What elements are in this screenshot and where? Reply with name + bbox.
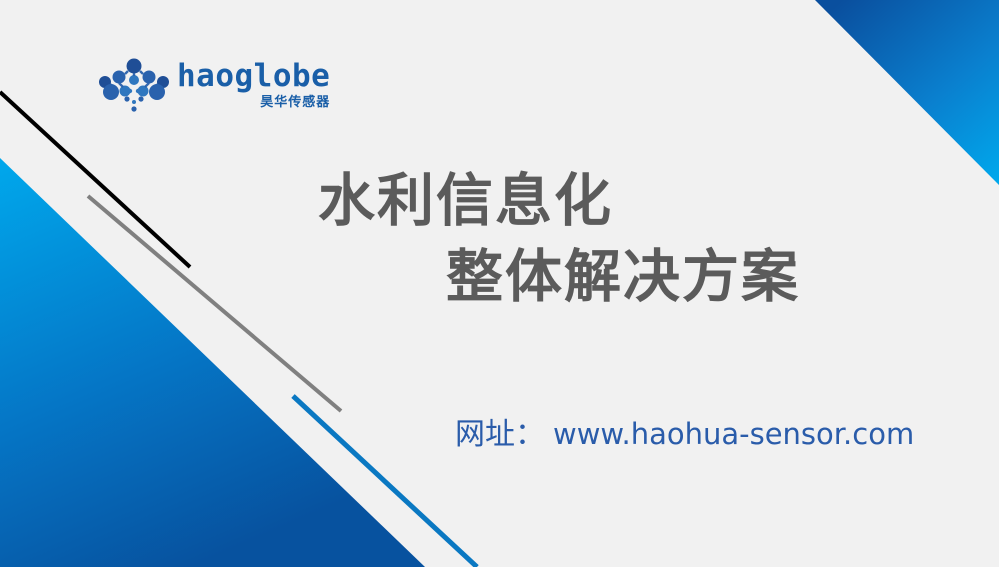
logo-text-block: haoglobe 昊华传感器 (177, 58, 330, 109)
title-line-1: 水利信息化 (318, 164, 918, 240)
brand-logo: haoglobe 昊华传感器 (97, 58, 312, 120)
haoglobe-bubble-cluster-icon (97, 58, 171, 116)
website-line: 网址： www.haohua-sensor.com (455, 420, 914, 450)
website-url[interactable]: www.haohua-sensor.com (553, 420, 914, 449)
presentation-slide: haoglobe 昊华传感器 水利信息化 整体解决方案 网址： www.haoh… (0, 0, 999, 567)
logo-wordmark: haoglobe (177, 61, 330, 92)
logo-subtitle: 昊华传感器 (260, 96, 330, 109)
title-line-2: 整体解决方案 (318, 240, 918, 316)
page-title: 水利信息化 整体解决方案 (318, 164, 918, 316)
website-label: 网址： (455, 420, 545, 450)
